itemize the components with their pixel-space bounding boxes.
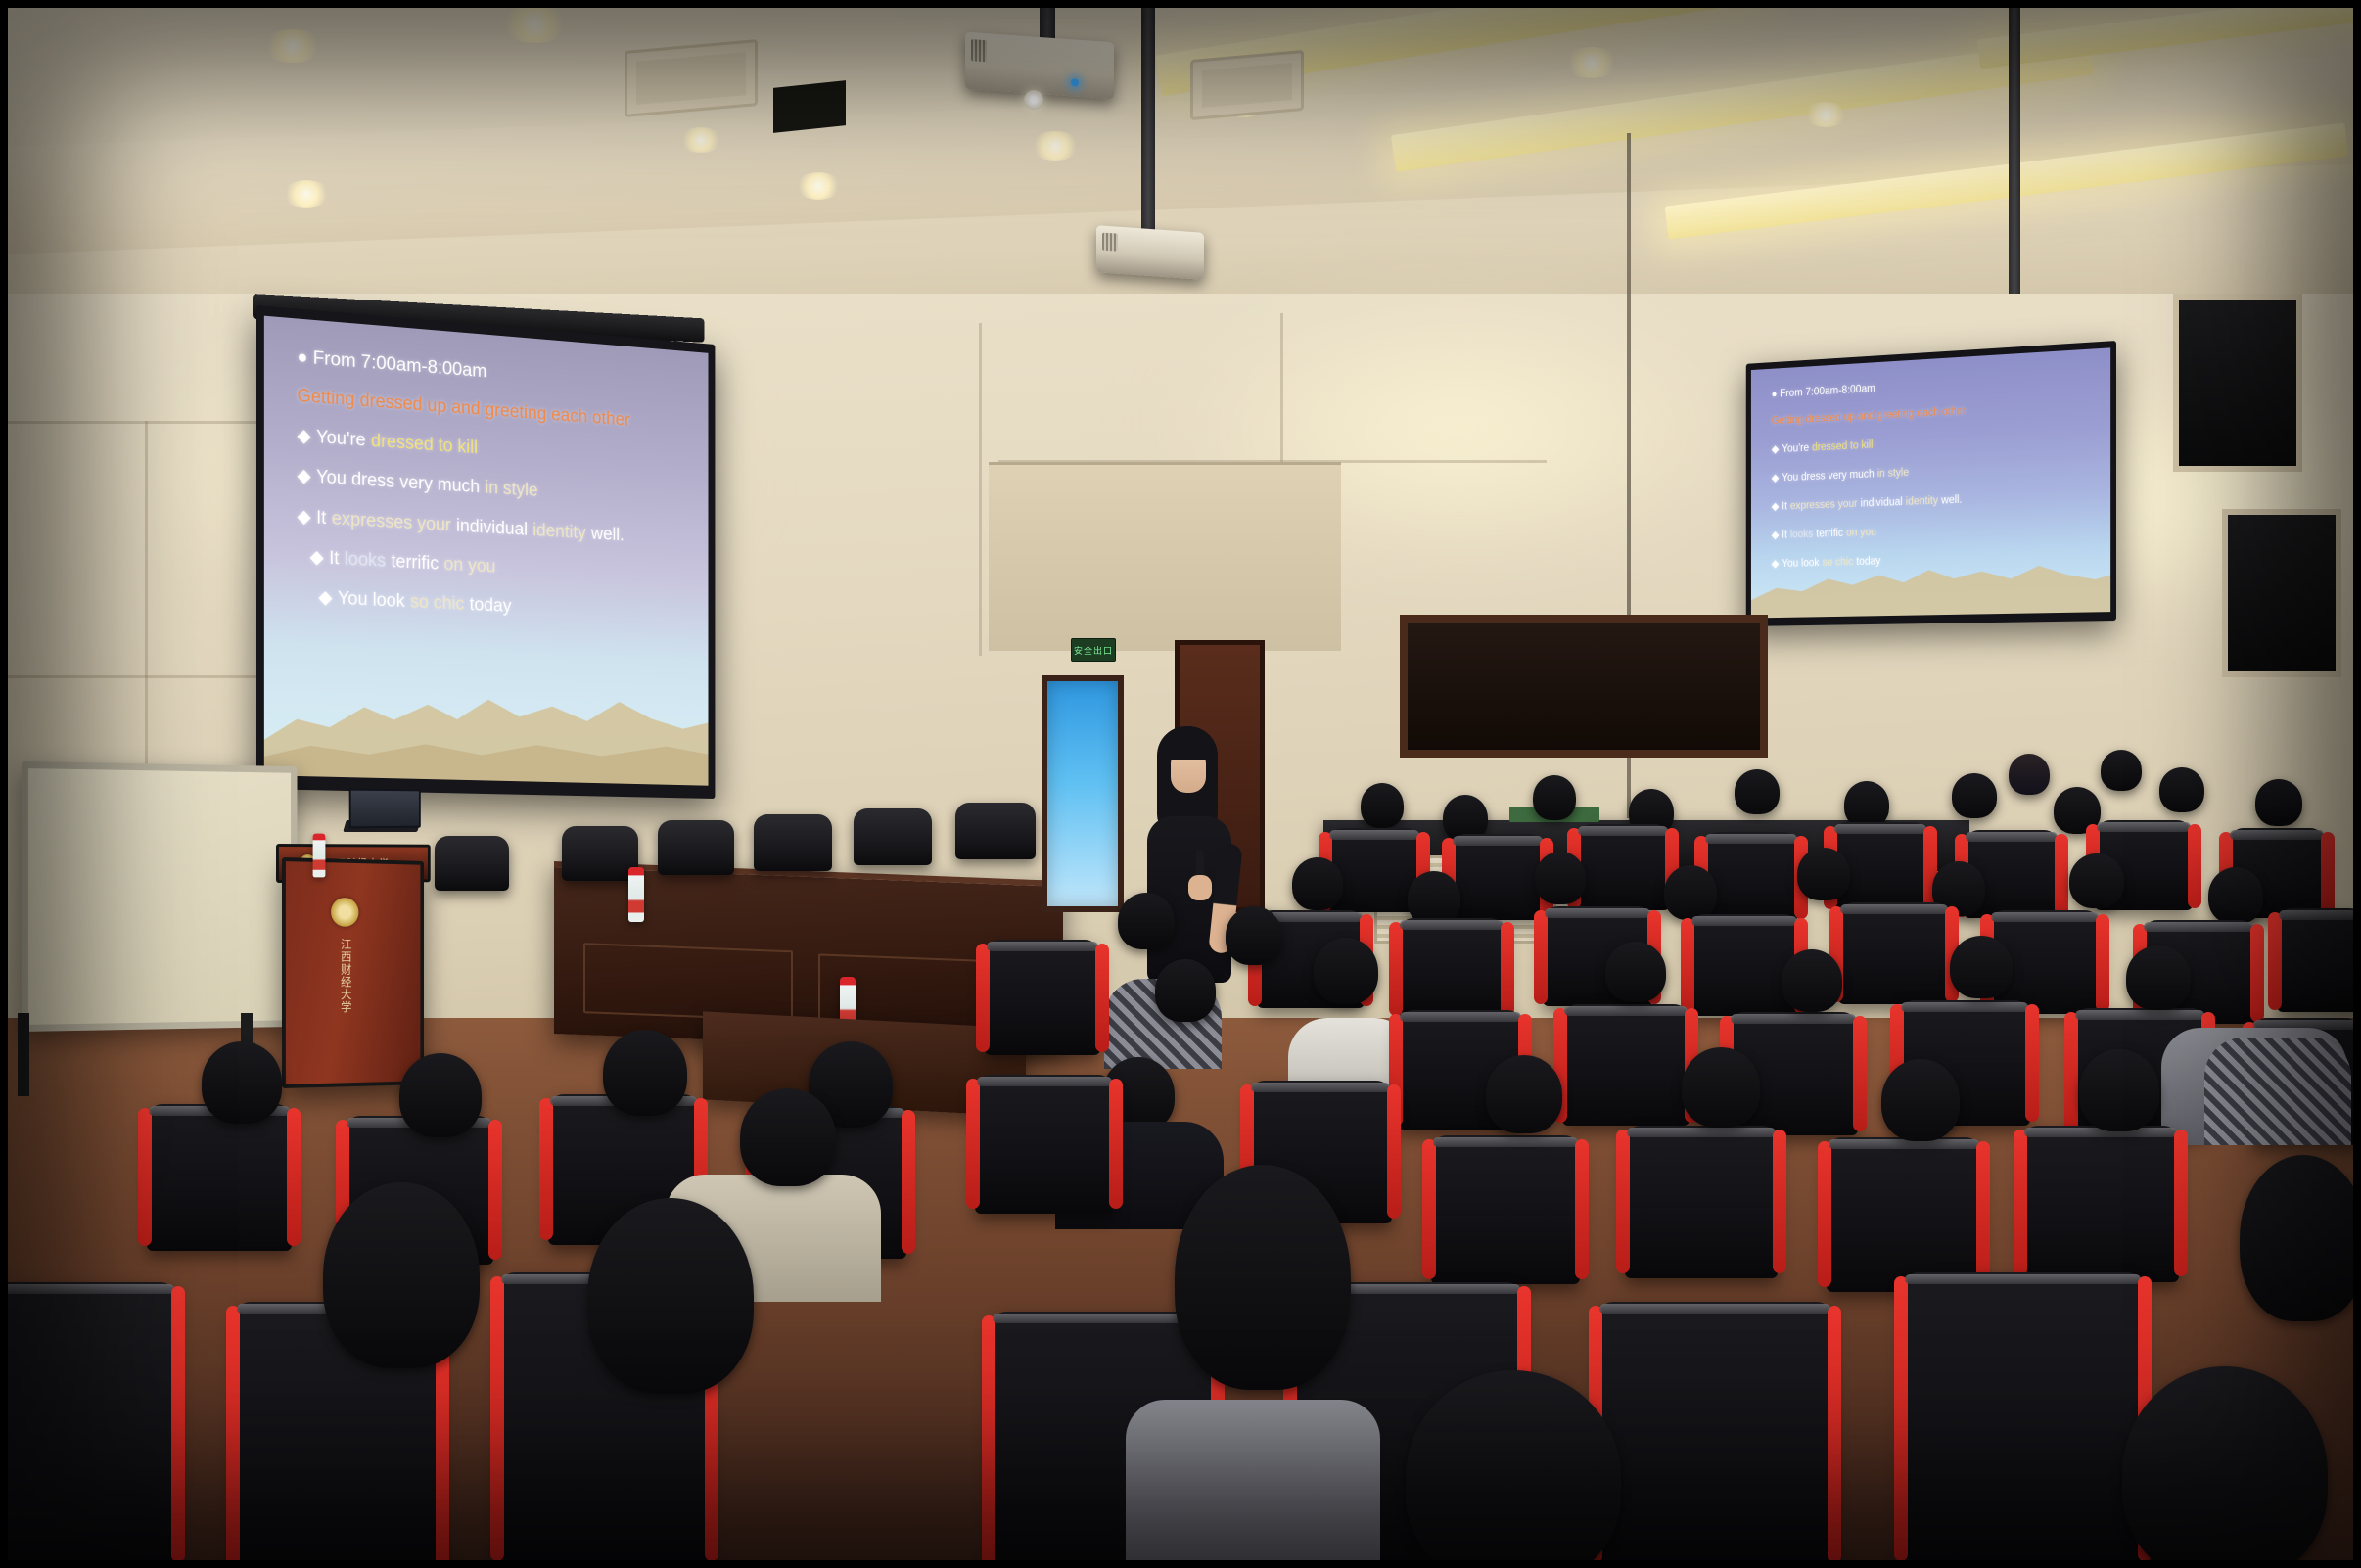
slide-bullet-3: ◆ It expresses your individual identity … xyxy=(1772,486,2104,512)
bullet-diamond-icon: ◆ xyxy=(1772,499,1780,512)
audience-head xyxy=(740,1088,836,1186)
bullet-1-seg-0: You're xyxy=(316,428,365,452)
bullet-3-seg-0: It xyxy=(1782,500,1787,512)
auditorium-seat[interactable] xyxy=(1903,1272,2143,1568)
meeting-chair xyxy=(854,808,932,865)
bullet-diamond-icon: ◆ xyxy=(1772,471,1780,484)
bullet-3-seg-3: identity xyxy=(532,520,585,543)
lecture-hall-photo: ● From 7:00am-8:00am Getting dressed up … xyxy=(0,0,2361,1568)
slide-title-text: From 7:00am-8:00am xyxy=(1780,383,1875,399)
podium[interactable]: 江西财经大学 xyxy=(282,857,424,1088)
bullet-3-seg-1: expresses your xyxy=(1790,498,1858,512)
auditorium-seat[interactable] xyxy=(985,940,1100,1055)
slide-surface-main: ● From 7:00am-8:00am Getting dressed up … xyxy=(264,316,709,786)
audience-head xyxy=(1533,775,1576,820)
audience-head xyxy=(2255,779,2302,826)
bullet-2-seg-0: You dress very much xyxy=(1782,468,1874,483)
water-bottle xyxy=(313,834,326,878)
audience-head xyxy=(1118,893,1175,949)
audience-head xyxy=(1535,852,1586,904)
exit-door-glass[interactable] xyxy=(1042,675,1124,912)
bullet-5-seg-2: today xyxy=(1856,555,1880,567)
bullet-diamond-icon: ◆ xyxy=(1772,528,1780,540)
bullet-4-seg-3: on you xyxy=(1846,527,1876,538)
auditorium-seat[interactable] xyxy=(1451,834,1545,920)
meeting-chair xyxy=(754,814,832,871)
audience-head xyxy=(1605,942,1666,1002)
bullet-2-seg-0: You dress very much xyxy=(316,467,480,498)
wall-panel-seam xyxy=(0,675,260,678)
bullet-diamond-icon: ◆ xyxy=(318,586,332,609)
bullet-3-seg-4: well. xyxy=(591,524,625,546)
audience-head xyxy=(1735,769,1780,814)
auditorium-seat[interactable] xyxy=(1690,914,1799,1016)
slide-subtitle-line: Getting dressed up and greeting each oth… xyxy=(1772,397,2104,426)
bullet-4-seg-1: looks xyxy=(1790,529,1813,540)
auditorium-seat[interactable] xyxy=(0,1282,176,1568)
audience-head xyxy=(2126,945,2191,1010)
bullet-1-seg-1: dressed to kill xyxy=(1812,439,1873,453)
bullet-1-seg-1: dressed to kill xyxy=(371,432,478,460)
audience-head xyxy=(1226,906,1282,965)
bullet-5-seg-2: today xyxy=(470,594,512,617)
audience-head xyxy=(1682,1047,1760,1128)
ceiling-downlight xyxy=(1030,131,1081,161)
ceiling-downlight xyxy=(262,29,323,63)
bullet-1-seg-0: You're xyxy=(1782,442,1809,455)
audience-head xyxy=(1664,865,1717,920)
auditorium-seat[interactable] xyxy=(1827,1137,1981,1292)
audience-head xyxy=(1314,938,1378,1004)
wall-recess-dark xyxy=(2222,509,2341,677)
slide-title-text: From 7:00am-8:00am xyxy=(313,347,487,384)
slide-subtitle-text: Getting dressed up and greeting each oth… xyxy=(297,386,629,431)
projection-screen-side[interactable]: ● From 7:00am-8:00am Getting dressed up … xyxy=(1746,341,2116,626)
bullet-4-seg-1: looks xyxy=(345,548,386,572)
ceiling-opening xyxy=(773,80,846,133)
auditorium-seat[interactable] xyxy=(1562,1004,1690,1126)
slide-bullet-5: ◆ You look so chic today xyxy=(318,586,704,626)
bullet-4-seg-0: It xyxy=(1782,530,1787,541)
bullet-2-seg-1: in style xyxy=(1877,467,1909,480)
slide-surface-side: ● From 7:00am-8:00am Getting dressed up … xyxy=(1751,347,2110,618)
audience-head xyxy=(1361,783,1404,828)
auditorium-seat[interactable] xyxy=(1838,902,1950,1004)
bullet-3-seg-1: expresses your xyxy=(332,508,451,536)
audience-head xyxy=(2009,754,2050,795)
auditorium-seat[interactable] xyxy=(975,1075,1114,1214)
meeting-chair xyxy=(562,826,638,881)
slide-bullet-5: ◆ You look so chic today xyxy=(1772,547,2104,570)
wall-panel-seam xyxy=(979,323,982,656)
ceiling-downlight xyxy=(1803,102,1848,127)
audience-head xyxy=(2101,750,2142,791)
ceiling-air-vent xyxy=(625,39,758,117)
podium-inscription-front: 江西财经大学 xyxy=(339,938,354,1013)
slide-bullet-2: ◆ You dress very much in style xyxy=(1772,456,2104,484)
bullet-dot-icon: ● xyxy=(1772,389,1778,400)
ceiling-downlight xyxy=(679,127,722,153)
bullet-diamond-icon: ◆ xyxy=(1772,441,1780,455)
audience-head xyxy=(202,1041,282,1124)
audience-head xyxy=(1175,1165,1351,1390)
ceiling-downlight xyxy=(1564,47,1619,78)
auditorium-seat[interactable] xyxy=(1597,1302,1832,1568)
slide-bullet-1: ◆ You're dressed to kill xyxy=(1772,426,2104,455)
whiteboard[interactable] xyxy=(22,761,297,1032)
ceiling-downlight xyxy=(499,4,570,43)
bullet-5-seg-0: You look xyxy=(1782,557,1819,569)
projection-screen-main[interactable]: ● From 7:00am-8:00am Getting dressed up … xyxy=(256,305,715,799)
exit-sign-label: 安全出口 xyxy=(1074,644,1113,657)
auditorium-seat[interactable] xyxy=(2277,908,2361,1012)
bullet-diamond-icon: ◆ xyxy=(1772,556,1780,569)
slide-title-line: ● From 7:00am-8:00am xyxy=(1772,369,2104,399)
audience-head xyxy=(399,1053,482,1137)
slide-subtitle-text: Getting dressed up and greeting each oth… xyxy=(1772,405,1966,427)
bullet-5-seg-1: so chic xyxy=(410,591,464,615)
meeting-chair xyxy=(955,803,1036,859)
bullet-2-seg-1: in style xyxy=(485,479,537,503)
presenter-fringe xyxy=(1167,740,1212,760)
bullet-diamond-icon: ◆ xyxy=(310,546,324,570)
slide-mountain-graphic xyxy=(264,656,709,786)
audience-head xyxy=(2240,1155,2361,1321)
bullet-3-seg-2: individual xyxy=(1861,496,1903,509)
presenter-hand xyxy=(1188,875,1212,900)
bullet-3-seg-4: well. xyxy=(1941,494,1962,506)
audience-head xyxy=(1844,781,1889,828)
bullet-4-seg-2: terrific xyxy=(392,551,440,575)
audience-head xyxy=(2079,1049,2159,1131)
wall-recess-panel xyxy=(989,462,1341,651)
auditorium-seat[interactable] xyxy=(1398,918,1505,1018)
bullet-4-seg-0: It xyxy=(329,548,339,570)
audience-head xyxy=(1950,936,2013,998)
slide-text-block-side: ● From 7:00am-8:00am Getting dressed up … xyxy=(1772,369,2104,584)
bullet-3-seg-2: individual xyxy=(456,516,528,541)
bullet-diamond-icon: ◆ xyxy=(297,465,310,488)
bullet-5-seg-1: so chic xyxy=(1823,556,1854,568)
audience-head xyxy=(2159,767,2204,812)
bullet-dot-icon: ● xyxy=(297,346,307,369)
water-bottle xyxy=(628,867,644,922)
auditorium-seat[interactable] xyxy=(1625,1126,1778,1278)
auditorium-seat[interactable] xyxy=(2022,1126,2179,1282)
audience-head xyxy=(1292,857,1343,910)
audience-head xyxy=(2069,853,2124,908)
audience-head xyxy=(2208,867,2263,924)
wall-panel-seam xyxy=(145,421,148,773)
audience-head xyxy=(323,1182,480,1368)
audience-torso xyxy=(2204,1038,2351,1145)
audience-torso xyxy=(1126,1400,1380,1568)
meeting-chair xyxy=(435,836,509,891)
laptop-screen[interactable] xyxy=(349,789,421,829)
audience-head xyxy=(1155,959,1216,1022)
slide-bullet-3: ◆ It expresses your individual identity … xyxy=(297,505,704,550)
wall-recess-dark xyxy=(2173,294,2302,472)
audience-head xyxy=(603,1030,687,1116)
bullet-4-seg-3: on you xyxy=(443,554,495,577)
university-emblem-icon xyxy=(331,898,358,927)
ceiling-downlight xyxy=(282,180,331,208)
auditorium-seat[interactable] xyxy=(147,1104,292,1251)
ceiling-downlight xyxy=(795,172,842,200)
whiteboard-leg xyxy=(18,1013,29,1096)
slide-text-block-main: ● From 7:00am-8:00am Getting dressed up … xyxy=(297,346,704,643)
bullet-diamond-icon: ◆ xyxy=(297,505,310,529)
slide-bullet-2: ◆ You dress very much in style xyxy=(297,465,704,512)
audience-head xyxy=(1486,1055,1562,1133)
audience-head xyxy=(1952,773,1997,818)
audience-head xyxy=(2122,1366,2328,1568)
slide-bullet-4: ◆ It looks terrific on you xyxy=(310,546,705,588)
bullet-3-seg-0: It xyxy=(316,507,326,529)
audience-head xyxy=(1797,848,1850,900)
bullet-diamond-icon: ◆ xyxy=(297,425,310,448)
ceiling-air-vent xyxy=(1190,50,1304,120)
auditorium-seat[interactable] xyxy=(1703,832,1799,920)
control-room-window xyxy=(1400,615,1768,758)
auditorium-seat[interactable] xyxy=(1431,1135,1580,1284)
audience-head xyxy=(587,1198,754,1394)
exit-sign: 安全出口 xyxy=(1071,638,1116,662)
auditorium-seat[interactable] xyxy=(1576,824,1670,910)
bullet-4-seg-2: terrific xyxy=(1816,528,1843,539)
audience-head xyxy=(1782,949,1842,1012)
audience-head xyxy=(1881,1059,1960,1141)
bullet-3-seg-3: identity xyxy=(1906,495,1938,508)
bullet-5-seg-0: You look xyxy=(338,588,405,613)
slide-bullet-4: ◆ It looks terrific on you xyxy=(1772,517,2104,540)
meeting-chair xyxy=(658,820,734,875)
